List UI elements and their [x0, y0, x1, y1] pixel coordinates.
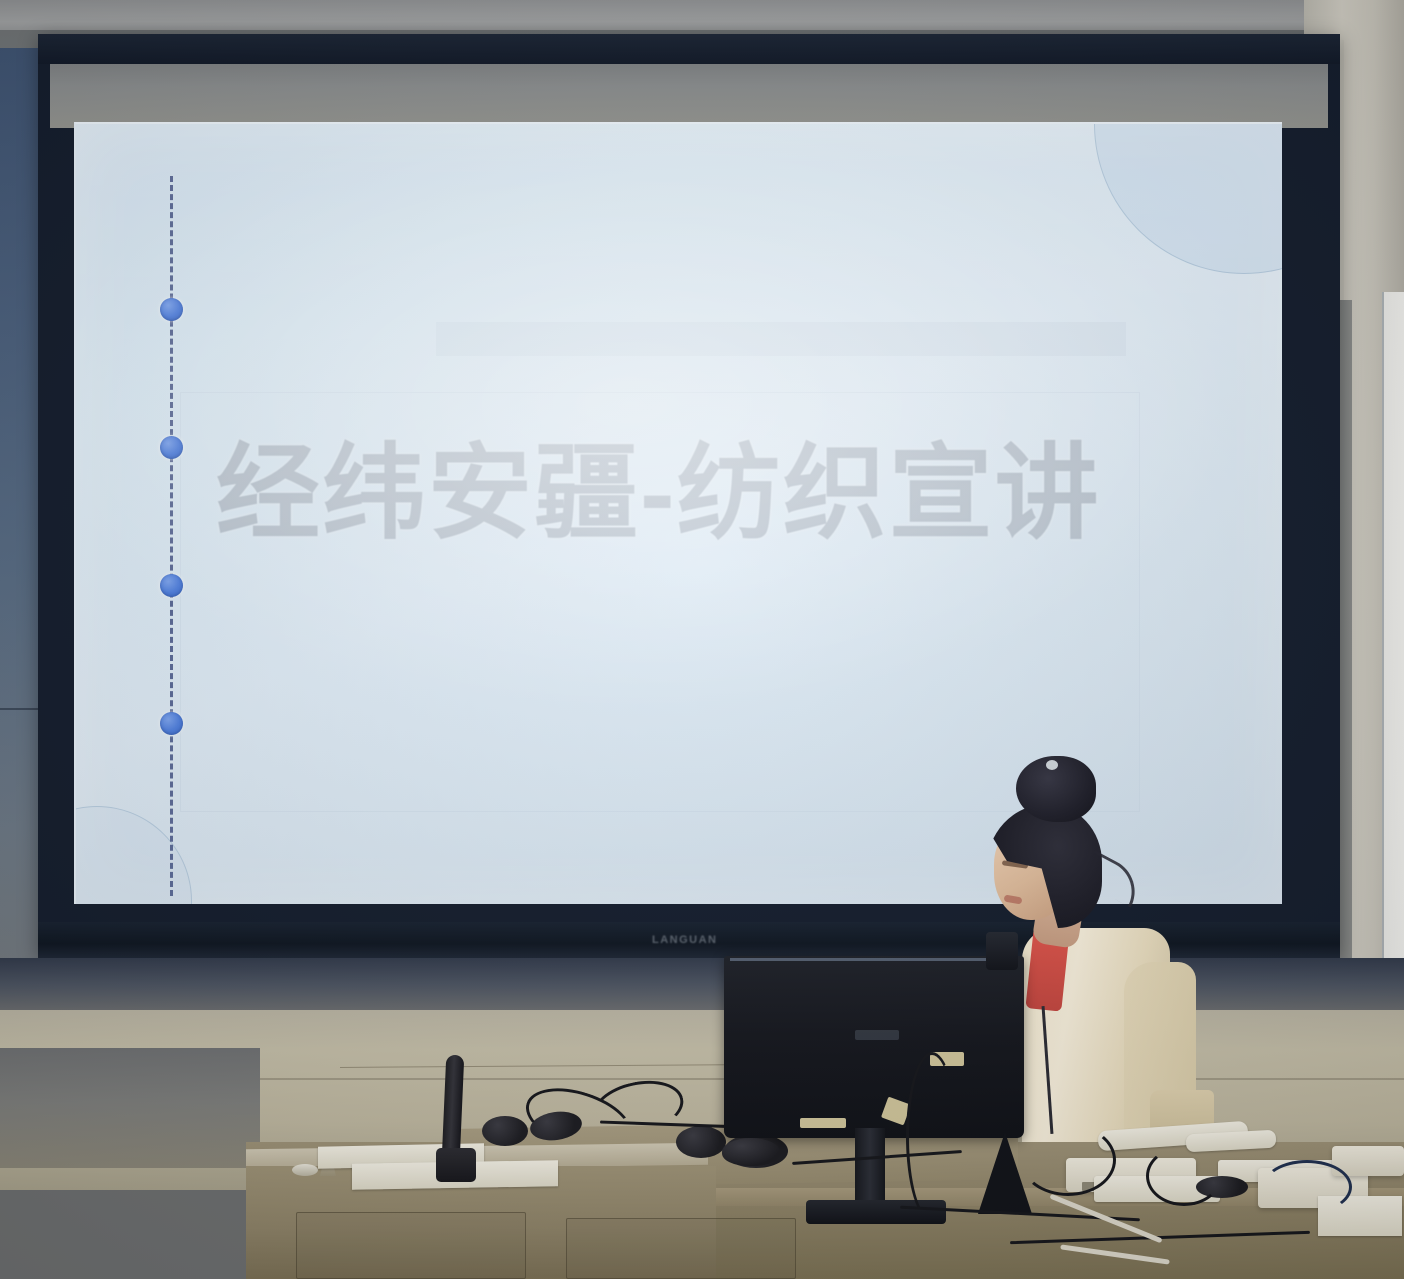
desk-drawer[interactable]: [566, 1218, 796, 1279]
timeline-dashed-line: [170, 176, 173, 896]
left-wall-lower: [0, 1048, 260, 1168]
cable-coil-mass: [482, 1116, 528, 1146]
circle-outline-icon: [74, 806, 192, 904]
cable-loop-blue: [1262, 1160, 1352, 1214]
slide-title: 经纬安疆-纺织宣讲: [216, 440, 1236, 549]
photo-scene: 经纬安疆-纺织宣讲 LANGUAN: [0, 0, 1404, 1279]
quarter-circle-icon: [1094, 122, 1282, 274]
screen-frame-top-bar: [38, 34, 1340, 64]
faint-band-shape: [436, 322, 1126, 356]
screen-upper-shadow: [50, 58, 1328, 128]
small-disc-object: [292, 1164, 318, 1176]
monitor-badge: [855, 1030, 899, 1040]
cable-label-tag: [800, 1118, 846, 1128]
cable-loop: [906, 1052, 958, 1222]
projected-slide: 经纬安疆-纺织宣讲: [74, 122, 1282, 904]
desk-drawer[interactable]: [296, 1212, 526, 1279]
cable-loop: [1020, 1124, 1116, 1196]
timeline-node-1: [160, 298, 183, 321]
microphone-base: [436, 1148, 476, 1182]
hair-tie-highlight: [1046, 760, 1058, 770]
timeline-node-2: [160, 436, 183, 459]
screen-brand-label: LANGUAN: [652, 934, 718, 946]
computer-mouse[interactable]: [722, 1138, 780, 1166]
timeline-node-3: [160, 574, 183, 597]
monitor-top-edge: [730, 958, 1018, 961]
cable-loop: [1146, 1146, 1222, 1206]
cable-coil-mass: [676, 1126, 726, 1158]
monitor-clip-mount: [986, 932, 1018, 970]
monitor-rear: [724, 956, 1024, 1138]
timeline-node-4: [160, 712, 183, 735]
